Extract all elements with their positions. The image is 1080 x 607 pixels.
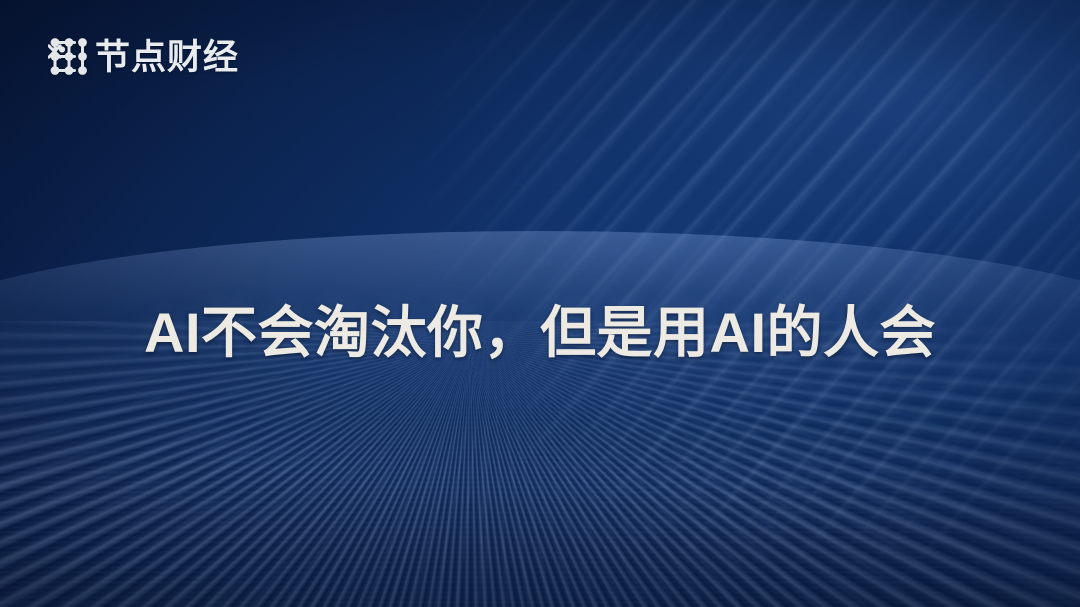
page-title: AI不会淘汰你，但是用AI的人会 [0, 300, 1080, 366]
brand-name: 节点财经 [95, 40, 239, 75]
brand-logo[interactable]: 节点财经 [48, 36, 239, 78]
node-network-icon [48, 36, 88, 78]
slide-canvas: 节点财经 AI不会淘汰你，但是用AI的人会 [0, 0, 1080, 607]
